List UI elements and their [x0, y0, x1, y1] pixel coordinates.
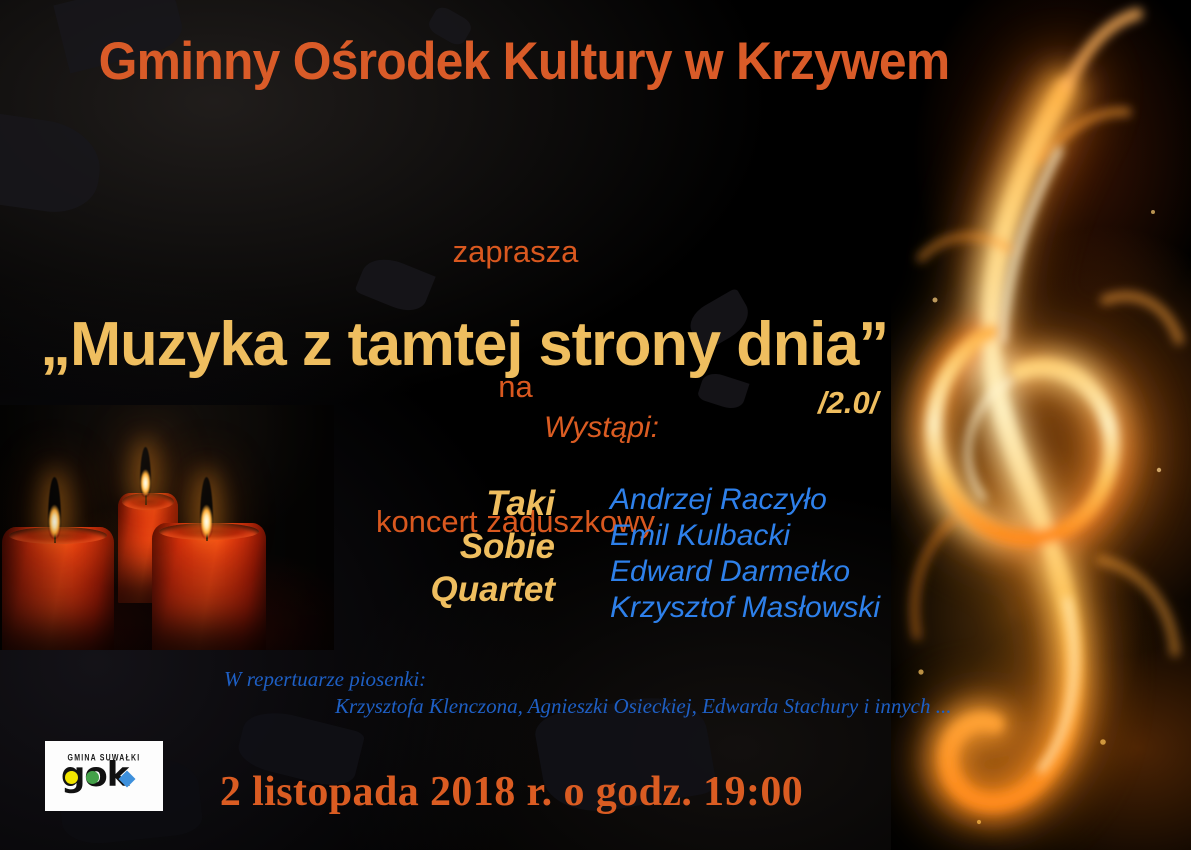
- invitation-block: zaprasza na koncert zaduszkowy: [0, 139, 1191, 634]
- edition-tag: /2.0/: [818, 385, 878, 421]
- concert-title: „Muzyka z tamtej strony dnia”: [40, 309, 888, 380]
- gok-logo: GMINA SUWAŁKI gok: [45, 741, 163, 811]
- repertoire-body: Krzysztofa Klenczona, Agnieszki Osieckie…: [335, 694, 952, 719]
- logo-wordmark: gok: [61, 763, 147, 797]
- logo-green-circle-icon: [86, 771, 99, 784]
- band-name: Taki Sobie Quartet: [380, 482, 555, 611]
- organization-title: Gminny Ośrodek Kultury w Krzywem: [36, 31, 1156, 92]
- event-date: 2 listopada 2018 r. o godz. 19:00: [0, 768, 1191, 816]
- performers-label: Wystąpi:: [544, 411, 659, 445]
- repertoire-heading: W repertuarze piosenki:: [224, 667, 426, 692]
- concert-poster: Gminny Ośrodek Kultury w Krzywem zaprasz…: [0, 0, 1191, 850]
- invitation-line-1: zaprasza: [0, 229, 1031, 274]
- musician-list: Andrzej Raczyło Emil Kulbacki Edward Dar…: [610, 482, 880, 626]
- logo-yellow-circle-icon: [65, 771, 78, 784]
